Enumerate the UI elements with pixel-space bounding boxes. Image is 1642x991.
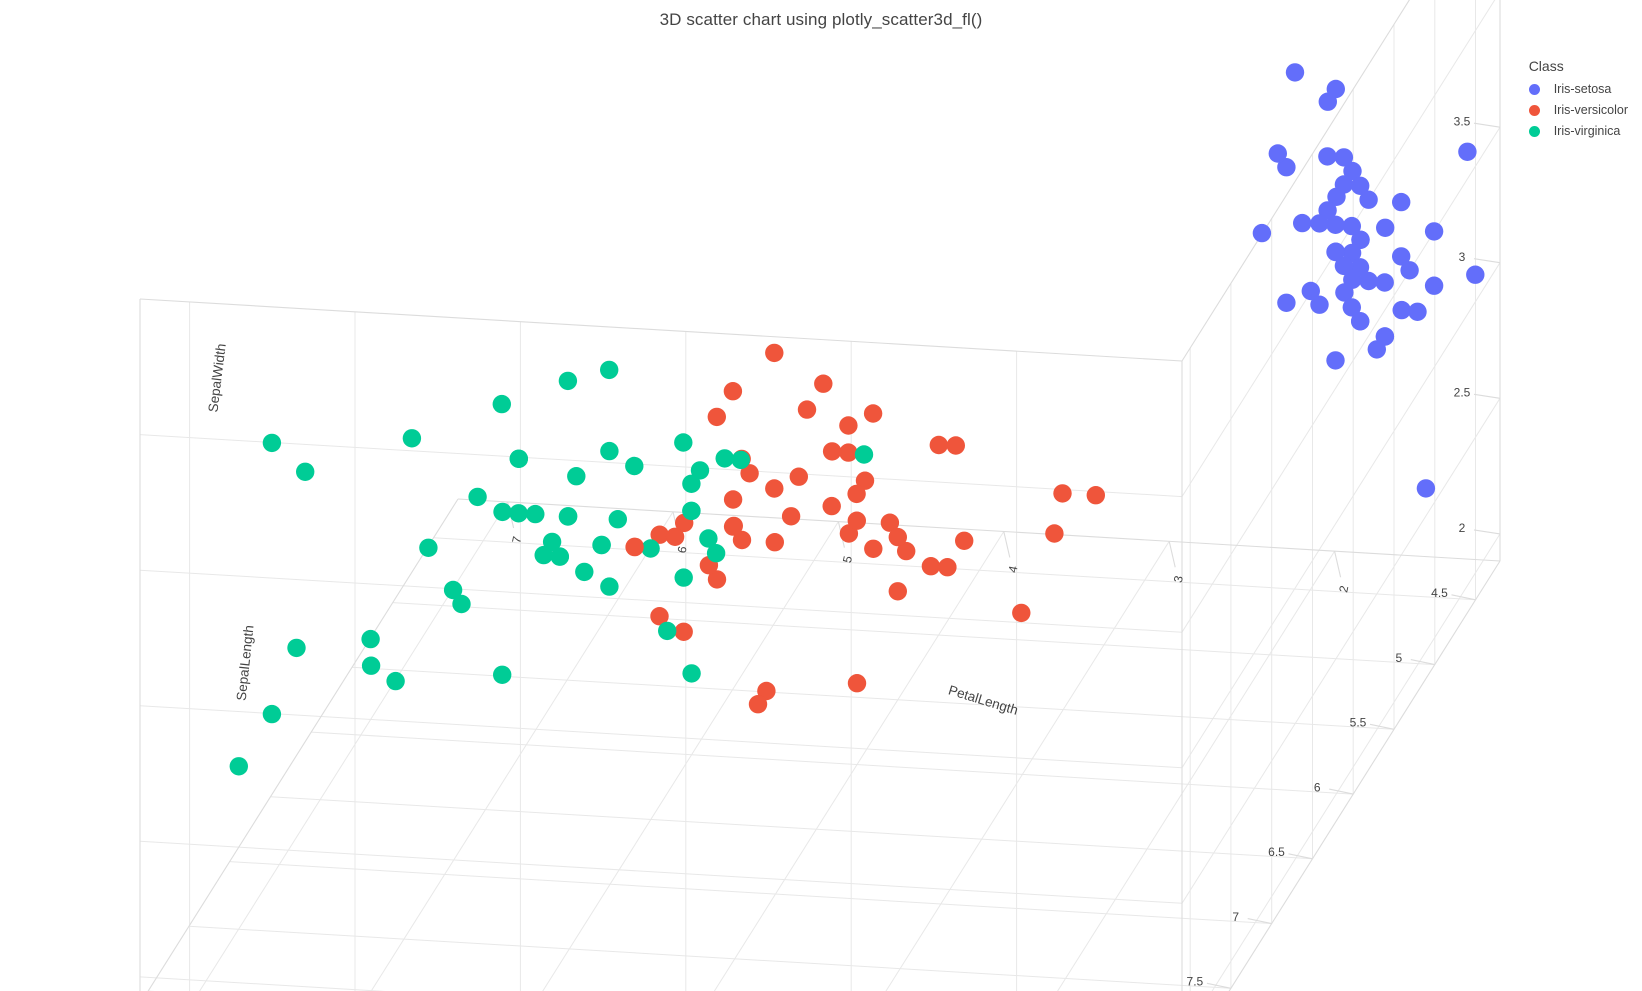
scatter-point[interactable] [823,497,841,515]
scatter-point[interactable] [682,664,700,682]
axis-line [1474,259,1500,263]
scatter-point[interactable] [1318,147,1336,165]
scatter-point[interactable] [419,539,437,557]
scatter-point[interactable] [403,429,421,447]
scatter-point[interactable] [1351,258,1369,276]
axis-line [1474,394,1500,398]
axis-tick-label: 4 [1005,564,1020,574]
scatter-point[interactable] [592,536,610,554]
scatter-point[interactable] [766,533,784,551]
scatter-point[interactable] [790,468,808,486]
scatter-point[interactable] [535,546,553,564]
axis-line [1474,123,1500,127]
scatter-point[interactable] [707,544,725,562]
axis-tick-label: 7 [509,535,524,545]
axis-tick-label: 3.5 [1454,114,1471,128]
scatter-point[interactable] [551,547,569,565]
scatter-point[interactable] [682,475,700,493]
scatter-point[interactable] [1417,479,1435,497]
grid-line [1182,398,1500,903]
scatter-point[interactable] [526,505,544,523]
scatter-point[interactable] [1277,294,1295,312]
scatter-point[interactable] [922,557,940,575]
scatter-point[interactable] [1458,143,1476,161]
axis-tick-label: 7 [1232,910,1239,924]
scatter-point[interactable] [1310,214,1328,232]
scatter-point[interactable] [889,528,907,546]
scatter-point[interactable] [287,639,305,657]
scatter-point[interactable] [296,463,314,481]
axis-line [1182,561,1500,991]
grid-line [140,841,1182,903]
grid-line [355,512,673,991]
scatter-point[interactable] [1293,214,1311,232]
grid-line [140,435,1182,497]
axis-line [140,299,1182,361]
scatter-point[interactable] [361,630,379,648]
scatter-point[interactable] [889,582,907,600]
scatter-point[interactable] [848,512,866,530]
scatter-point[interactable] [947,436,965,454]
axis-line [1169,541,1175,567]
scatter-point[interactable] [765,479,783,497]
scatter-point[interactable] [263,434,281,452]
scatter-point[interactable] [1392,193,1410,211]
scatter-point[interactable] [609,510,627,528]
grid-line [271,797,1313,859]
axis-tick-label: 2.5 [1454,385,1471,399]
scatter-point[interactable] [1087,486,1105,504]
scatter3d-scene[interactable]: 22.533.54SepalWidth4.555.566.577.58Sepal… [0,0,1642,991]
scatter-point[interactable] [1425,222,1443,240]
scatter-point[interactable] [1326,216,1344,234]
axis-tick-label: 2 [1336,584,1351,594]
grid-line [1182,263,1500,768]
scatter-point[interactable] [823,442,841,460]
axis-title-petallength: PetalLength [947,682,1020,717]
scatter-point[interactable] [674,433,692,451]
scatter-point[interactable] [1053,484,1071,502]
scatter-point[interactable] [641,539,659,557]
scatter-point[interactable] [1392,247,1410,265]
scatter-point[interactable] [263,705,281,723]
grid-line [1182,534,1500,991]
scatter-point[interactable] [493,666,511,684]
scatter-point[interactable] [1343,217,1361,235]
grid-line [190,502,508,991]
scatter-point[interactable] [575,563,593,581]
scatter-point[interactable] [798,400,816,418]
scatter-point[interactable] [1045,524,1063,542]
scatter-point[interactable] [1302,282,1320,300]
scatter-point[interactable] [864,540,882,558]
scatter-point[interactable] [955,532,973,550]
scatter-point[interactable] [938,558,956,576]
scatter-point[interactable] [625,538,643,556]
scatter-point[interactable] [510,450,528,468]
axis-tick-label: 3 [1171,574,1186,584]
axis-title-sepalwidth: SepalWidth [205,343,228,413]
grid-line [1017,551,1335,991]
scatter-point[interactable] [509,504,527,522]
scatter-point[interactable] [1343,298,1361,316]
scatter-point[interactable] [1335,148,1353,166]
grid-line [140,977,1182,991]
scatter-point[interactable] [839,443,857,461]
scatter-point[interactable] [493,395,511,413]
scatter-point[interactable] [1376,273,1394,291]
scatter-point[interactable] [1253,224,1271,242]
grid-line [851,541,1169,991]
scatter-point[interactable] [864,404,882,422]
axis-line [1474,530,1500,534]
axis-line [1335,551,1341,577]
plot-root: 3D scatter chart using plotly_scatter3d_… [0,0,1642,991]
scatter-point[interactable] [1327,80,1345,98]
scatter-point[interactable] [1368,340,1386,358]
scatter-point[interactable] [675,623,693,641]
scatter-point[interactable] [724,517,742,535]
grid-line [520,522,838,991]
scatter-point[interactable] [362,657,380,675]
scatter-point[interactable] [444,581,462,599]
scatter-point[interactable] [855,445,873,463]
scatter-point[interactable] [847,485,865,503]
grid-line [189,926,1231,988]
axis-tick-label: 5 [1395,651,1402,665]
scatter-point[interactable] [1335,175,1353,193]
scatter-point[interactable] [666,528,684,546]
scatter-point[interactable] [1326,243,1344,261]
axis-tick-label: 5 [840,554,855,564]
scatter-point[interactable] [848,674,866,692]
scatter-point[interactable] [600,577,618,595]
scatter-point[interactable] [559,507,577,525]
scatter-point[interactable] [724,490,742,508]
scatter-point[interactable] [682,502,700,520]
scatter-point[interactable] [749,695,767,713]
scatter-point[interactable] [1269,144,1287,162]
grid-line [393,603,1435,665]
scatter-point[interactable] [559,372,577,390]
scatter-point[interactable] [468,488,486,506]
scatter-point[interactable] [230,757,248,775]
scatter-point[interactable] [625,457,643,475]
scatter-point[interactable] [567,467,585,485]
scatter-point[interactable] [493,503,511,521]
axis-line [458,499,1500,561]
scatter-point[interactable] [724,382,742,400]
scatter-point[interactable] [658,622,676,640]
axis-tick-label: 2 [1459,521,1466,535]
scatter-point[interactable] [1376,219,1394,237]
axis-tick-label: 3 [1459,250,1466,264]
axis-tick-label: 6 [1314,780,1321,794]
scatter-point[interactable] [1466,266,1484,284]
scatter-point[interactable] [708,408,726,426]
axis-tick-label: 6 [675,545,690,555]
scatter-point[interactable] [782,507,800,525]
scatter-point[interactable] [765,344,783,362]
grid-line [140,706,1182,768]
axis-tick-label: 7.5 [1187,974,1204,988]
axis-tick-label: 4.5 [1431,586,1448,600]
grid-line [686,532,1004,991]
scatter-point[interactable] [716,449,734,467]
scatter-point[interactable] [930,436,948,454]
scatter-point[interactable] [600,361,618,379]
scatter-point[interactable] [675,568,693,586]
scatter-point[interactable] [1012,604,1030,622]
grid-line [311,732,1353,794]
scatter-point[interactable] [839,416,857,434]
scatter-point[interactable] [1393,301,1411,319]
grid-line [230,862,1272,924]
scatter-point[interactable] [814,375,832,393]
scatter-point[interactable] [732,451,750,469]
axis-line [1004,532,1010,558]
scatter-point[interactable] [1351,177,1369,195]
scatter-point[interactable] [386,672,404,690]
scatter-point[interactable] [1326,351,1344,369]
scatter-point[interactable] [1408,303,1426,321]
scatter-point[interactable] [600,442,618,460]
scatter-point[interactable] [1286,63,1304,81]
axis-tick-label: 5.5 [1350,715,1367,729]
axis-title-sepallength: SepalLength [234,624,257,701]
axis-tick-label: 6.5 [1268,845,1285,859]
scatter-point[interactable] [1425,277,1443,295]
